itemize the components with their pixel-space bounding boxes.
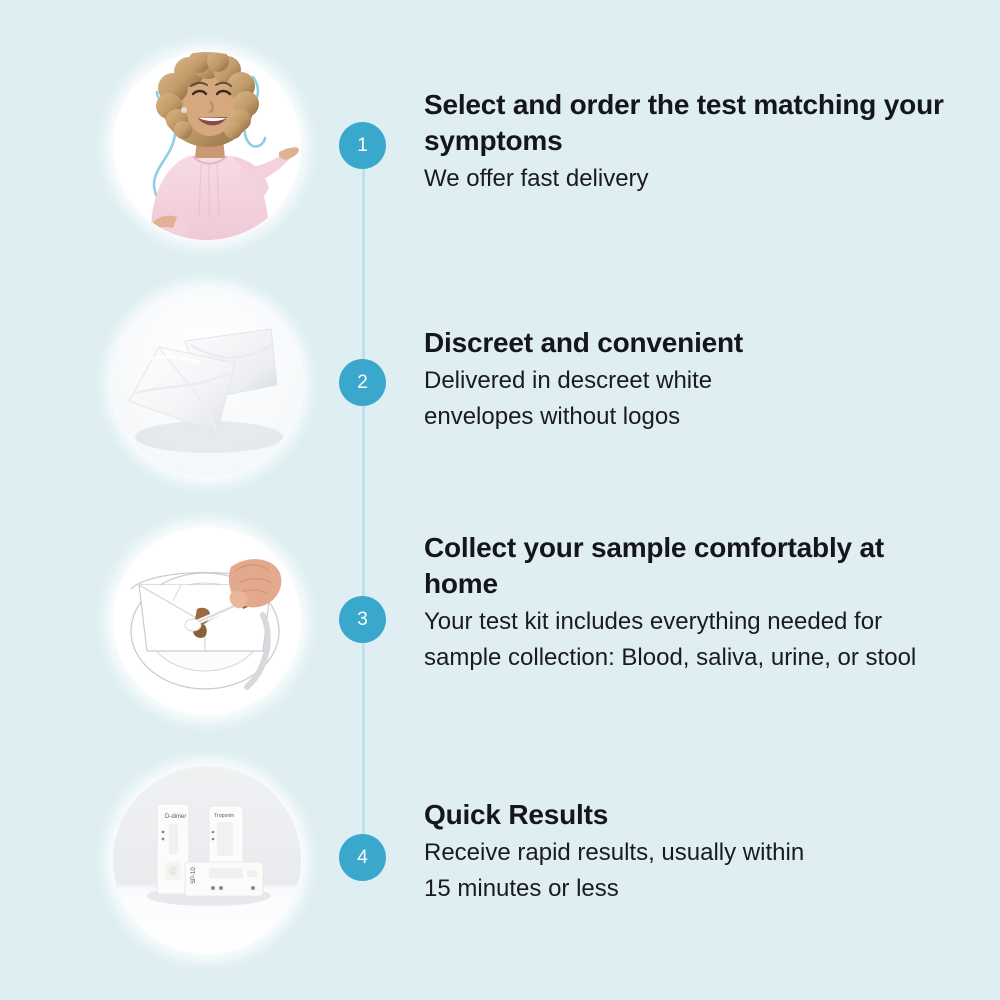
step-1-title: Select and order the test matching your … xyxy=(424,87,964,159)
step-4-badge: 4 xyxy=(339,834,386,881)
how-it-works-infographic: 1 Select and order the test matching you… xyxy=(0,0,1000,1000)
step-3-title: Collect your sample comfortably at home xyxy=(424,530,964,602)
step-1-number: 1 xyxy=(357,136,368,155)
step-connector-line xyxy=(362,168,365,834)
step-3-image xyxy=(113,527,301,715)
step-item-2: 2 Discreet and convenient Delivered in d… xyxy=(0,283,1000,483)
step-1-image xyxy=(113,52,301,240)
step-2-text: Discreet and convenient Delivered in des… xyxy=(424,325,964,435)
sample-collection-illustration xyxy=(113,527,301,715)
step-3-description: Your test kit includes everything needed… xyxy=(424,604,964,676)
step-1-text: Select and order the test matching your … xyxy=(424,87,964,197)
step-item-1: 1 Select and order the test matching you… xyxy=(0,46,1000,246)
kit-label-d-dimer: D-dimer xyxy=(165,814,186,820)
woman-pointing-photo xyxy=(113,52,301,240)
step-2-image xyxy=(113,289,301,477)
step-1-badge: 1 xyxy=(339,122,386,169)
step-3-text: Collect your sample comfortably at home … xyxy=(424,530,964,676)
step-4-description: Receive rapid results, usually within 15… xyxy=(424,835,964,907)
step-4-number: 4 xyxy=(357,848,368,867)
rapid-test-kits-photo: D-dimer Troponin SP-10 xyxy=(113,766,301,954)
step-4-text: Quick Results Receive rapid results, usu… xyxy=(424,797,964,907)
step-4-title: Quick Results xyxy=(424,797,964,833)
step-item-4: D-dimer Troponin SP-10 xyxy=(0,760,1000,960)
kit-label-sp10: SP-10 xyxy=(191,867,197,884)
step-2-title: Discreet and convenient xyxy=(424,325,964,361)
step-1-description: We offer fast delivery xyxy=(424,161,964,197)
step-2-number: 2 xyxy=(357,373,368,392)
step-2-description: Delivered in descreet white envelopes wi… xyxy=(424,363,964,435)
white-envelopes-photo xyxy=(113,289,301,477)
kit-label-troponin: Troponin xyxy=(214,813,234,819)
step-4-image: D-dimer Troponin SP-10 xyxy=(113,766,301,954)
step-2-badge: 2 xyxy=(339,359,386,406)
step-item-3: 3 Collect your sample comfortably at hom… xyxy=(0,521,1000,721)
step-3-number: 3 xyxy=(357,610,368,629)
step-3-badge: 3 xyxy=(339,596,386,643)
